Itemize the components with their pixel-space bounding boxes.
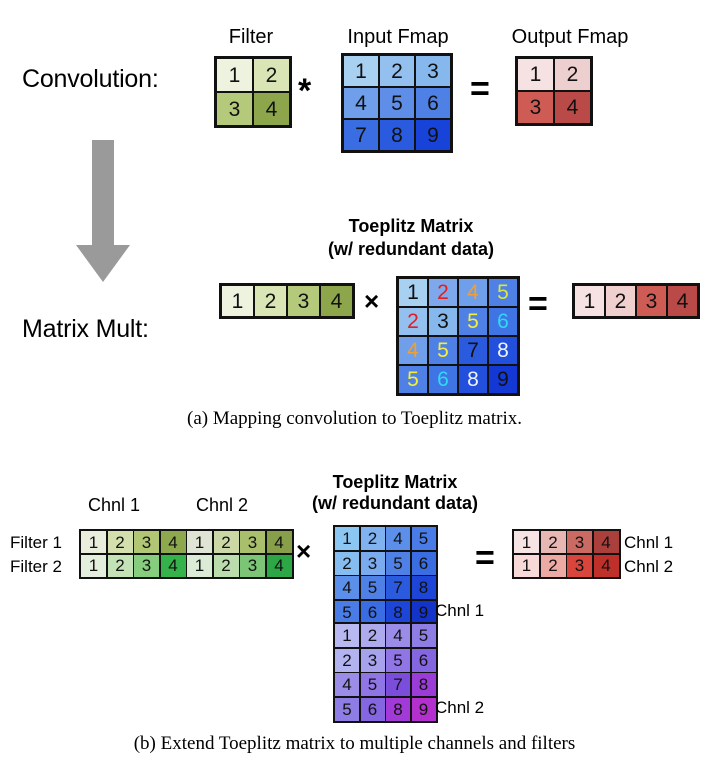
- toeplitz-title-b-line2: (w/ redundant data): [280, 493, 510, 514]
- matrix-cell: 7: [459, 337, 487, 364]
- matrix-cell: 7: [386, 673, 410, 696]
- toeplitz-matrix-b-chnl1: 1245235645785689: [333, 525, 438, 626]
- matrix-cell: 2: [361, 624, 385, 647]
- matrix-cell: 6: [361, 698, 385, 721]
- matrix-cell: 8: [489, 337, 517, 364]
- matrix-cell: 5: [361, 576, 385, 599]
- matrix-cell: 3: [416, 56, 450, 86]
- matrix-cell: 2: [399, 308, 427, 335]
- matrix-cell: 1: [222, 286, 253, 316]
- matrix-cell: 2: [108, 531, 133, 553]
- matrix-cell: 3: [134, 555, 159, 577]
- matrix-cell: 8: [380, 120, 414, 150]
- equals-operator-a: =: [470, 72, 490, 106]
- matrix-cell: 4: [335, 673, 359, 696]
- matrix-cell: 5: [386, 552, 410, 575]
- matrix-cell: 4: [254, 93, 289, 125]
- output-chnl1-tag: Chnl 1: [624, 533, 673, 553]
- matrix-cell: 2: [108, 555, 133, 577]
- toeplitz-chnl1-tag: Chnl 1: [435, 601, 484, 621]
- equals-operator-b: =: [475, 541, 495, 575]
- matrix-cell: 2: [429, 279, 457, 306]
- filters-matrix-b: 1234123412341234: [79, 529, 294, 579]
- matrix-cell: 8: [386, 601, 410, 624]
- filter-matrix: 1234: [214, 56, 292, 128]
- matrix-cell: 1: [187, 555, 212, 577]
- matrix-cell: 9: [416, 120, 450, 150]
- matrix-cell: 6: [429, 366, 457, 393]
- matrix-cell: 5: [361, 673, 385, 696]
- matrix-cell: 4: [594, 531, 619, 553]
- matrix-cell: 3: [637, 286, 666, 316]
- matrix-cell: 6: [416, 88, 450, 118]
- matrix-cell: 2: [555, 59, 590, 90]
- matrix-cell: 4: [668, 286, 697, 316]
- output-fmap-matrix: 1234: [515, 56, 593, 126]
- matrix-cell: 4: [161, 555, 186, 577]
- matrix-cell: 2: [361, 527, 385, 550]
- matrix-cell: 2: [541, 555, 566, 577]
- matrix-cell: 1: [344, 56, 378, 86]
- matrix-cell: 9: [412, 698, 436, 721]
- matrix-cell: 3: [567, 531, 592, 553]
- filter-flattened-vector: 1234: [219, 283, 355, 319]
- matrix-cell: 2: [214, 531, 239, 553]
- matrix-cell: 5: [489, 279, 517, 306]
- matrix-cell: 2: [335, 552, 359, 575]
- output-chnl2-tag: Chnl 2: [624, 557, 673, 577]
- matrix-cell: 3: [240, 555, 265, 577]
- input-fmap-header: Input Fmap: [328, 26, 468, 49]
- matrix-cell: 4: [267, 531, 292, 553]
- filter-header: Filter: [186, 26, 316, 49]
- multiply-operator-a: ×: [364, 288, 379, 314]
- matrix-cell: 5: [380, 88, 414, 118]
- matrix-cell: 1: [399, 279, 427, 306]
- matrix-cell: 4: [386, 527, 410, 550]
- matrix-cell: 2: [214, 555, 239, 577]
- matrix-cell: 4: [386, 624, 410, 647]
- filter-2-label: Filter 2: [10, 557, 62, 577]
- matrix-cell: 3: [217, 93, 252, 125]
- matrix-cell: 2: [606, 286, 635, 316]
- matrix-cell: 3: [361, 552, 385, 575]
- output-fmap-header: Output Fmap: [495, 26, 645, 49]
- matrix-cell: 9: [489, 366, 517, 393]
- matrix-cell: 3: [567, 555, 592, 577]
- matrix-cell: 4: [267, 555, 292, 577]
- filter-1-label: Filter 1: [10, 533, 62, 553]
- toeplitz-title-a-line2: (w/ redundant data): [286, 239, 536, 260]
- matrix-cell: 4: [459, 279, 487, 306]
- matrix-cell: 3: [288, 286, 319, 316]
- toeplitz-matrix-a: 1245235645785689: [396, 276, 520, 396]
- matrix-cell: 1: [81, 531, 106, 553]
- matrix-cell: 5: [386, 649, 410, 672]
- matrix-cell: 6: [412, 552, 436, 575]
- matrix-cell: 3: [361, 649, 385, 672]
- convolution-operator: *: [298, 74, 311, 108]
- matrix-cell: 3: [134, 531, 159, 553]
- matrix-cell: 9: [412, 601, 436, 624]
- matrix-cell: 4: [321, 286, 352, 316]
- toeplitz-title-a-line1: Toeplitz Matrix: [296, 216, 526, 237]
- equals-operator-a2: =: [528, 287, 548, 321]
- matrix-cell: 1: [81, 555, 106, 577]
- matrix-cell: 1: [217, 59, 252, 91]
- matrix-cell: 3: [429, 308, 457, 335]
- matrix-cell: 8: [386, 698, 410, 721]
- panel-b-caption: (b) Extend Toeplitz matrix to multiple c…: [0, 733, 709, 755]
- convolution-row-label: Convolution:: [22, 65, 159, 94]
- matrix-cell: 6: [489, 308, 517, 335]
- matrix-cell: 4: [399, 337, 427, 364]
- matrix-cell: 2: [255, 286, 286, 316]
- chnl1-filter-header: Chnl 1: [88, 495, 140, 516]
- panel-a-caption: (a) Mapping convolution to Toeplitz matr…: [0, 408, 709, 430]
- matrix-cell: 2: [541, 531, 566, 553]
- matrix-cell: 1: [335, 527, 359, 550]
- matrix-cell: 3: [240, 531, 265, 553]
- matrix-cell: 4: [335, 576, 359, 599]
- matrix-cell: 1: [518, 59, 553, 90]
- matrix-cell: 8: [412, 673, 436, 696]
- toeplitz-title-b-line1: Toeplitz Matrix: [290, 472, 500, 493]
- matrix-cell: 6: [361, 601, 385, 624]
- multiply-operator-b: ×: [296, 538, 311, 564]
- matrix-cell: 1: [514, 555, 539, 577]
- down-arrow-icon: [68, 140, 138, 285]
- chnl2-filter-header: Chnl 2: [196, 495, 248, 516]
- matrix-cell: 5: [412, 527, 436, 550]
- matrix-cell: 4: [161, 531, 186, 553]
- matrix-mult-row-label: Matrix Mult:: [22, 315, 149, 344]
- input-fmap-matrix: 123456789: [341, 53, 453, 153]
- matrix-cell: 5: [429, 337, 457, 364]
- matrix-cell: 1: [575, 286, 604, 316]
- matrix-cell: 8: [459, 366, 487, 393]
- matrix-cell: 5: [399, 366, 427, 393]
- matrix-cell: 2: [254, 59, 289, 91]
- matrix-cell: 5: [459, 308, 487, 335]
- matrix-cell: 4: [344, 88, 378, 118]
- matrix-cell: 7: [344, 120, 378, 150]
- matrix-cell: 2: [335, 649, 359, 672]
- toeplitz-chnl2-tag: Chnl 2: [435, 698, 484, 718]
- matrix-cell: 1: [335, 624, 359, 647]
- matrix-cell: 4: [594, 555, 619, 577]
- matrix-cell: 6: [412, 649, 436, 672]
- matrix-cell: 2: [380, 56, 414, 86]
- matrix-cell: 5: [335, 698, 359, 721]
- matrix-cell: 5: [335, 601, 359, 624]
- matrix-cell: 7: [386, 576, 410, 599]
- toeplitz-matrix-b-chnl2: 1245235645785689: [333, 622, 438, 723]
- output-matrix-b: 12341234: [512, 529, 621, 579]
- matrix-cell: 1: [187, 531, 212, 553]
- matrix-cell: 3: [518, 92, 553, 123]
- matrix-cell: 8: [412, 576, 436, 599]
- matrix-cell: 1: [514, 531, 539, 553]
- matrix-cell: 4: [555, 92, 590, 123]
- output-flattened-vector: 1234: [572, 283, 700, 319]
- matrix-cell: 5: [412, 624, 436, 647]
